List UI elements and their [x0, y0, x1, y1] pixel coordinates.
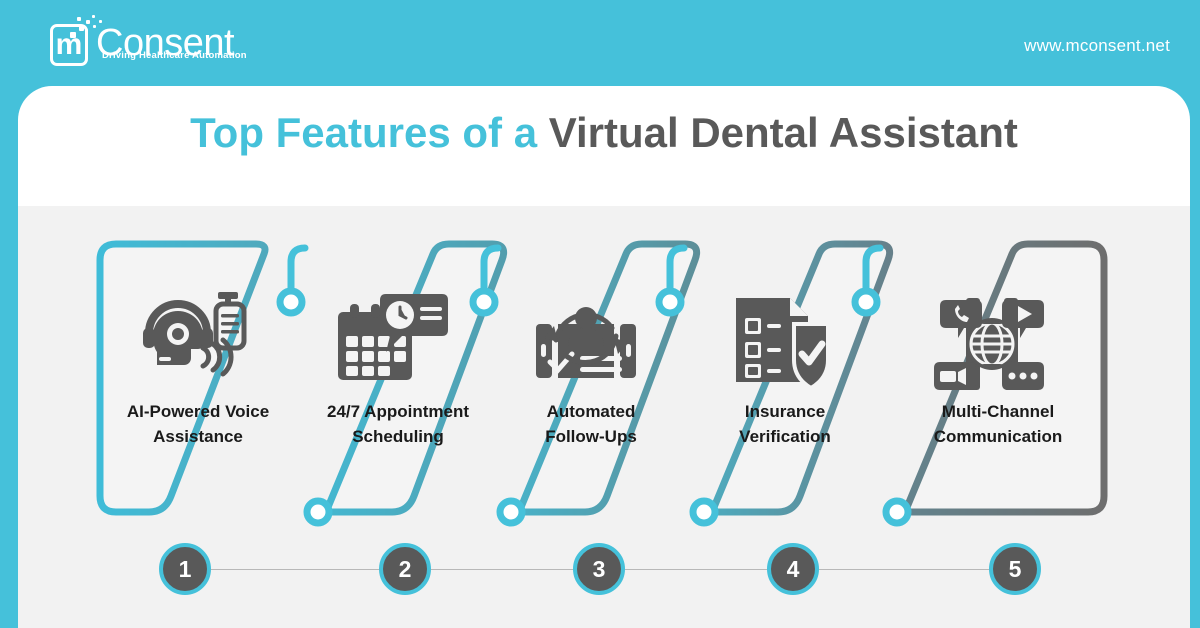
- step-number-3[interactable]: 3: [573, 543, 625, 595]
- step-number-5[interactable]: 5: [989, 543, 1041, 595]
- step-number-2[interactable]: 2: [379, 543, 431, 595]
- card-label-3: Automated Follow-Ups: [493, 400, 689, 449]
- feature-flow: AI-Powered Voice Assistance 24/7 Appoint…: [0, 0, 1200, 628]
- connector-top-group: [291, 248, 880, 290]
- card-label-2: 24/7 Appointment Scheduling: [300, 400, 496, 449]
- step-number-1[interactable]: 1: [159, 543, 211, 595]
- card-shape-1: [100, 244, 265, 512]
- card-label-5: Multi-Channel Communication: [900, 400, 1096, 449]
- infographic-root: m Consent Driving Healthcare Automation …: [0, 0, 1200, 628]
- card-label-4: Insurance Verification: [687, 400, 883, 449]
- card-label-1: AI-Powered Voice Assistance: [100, 400, 296, 449]
- step-number-4[interactable]: 4: [767, 543, 819, 595]
